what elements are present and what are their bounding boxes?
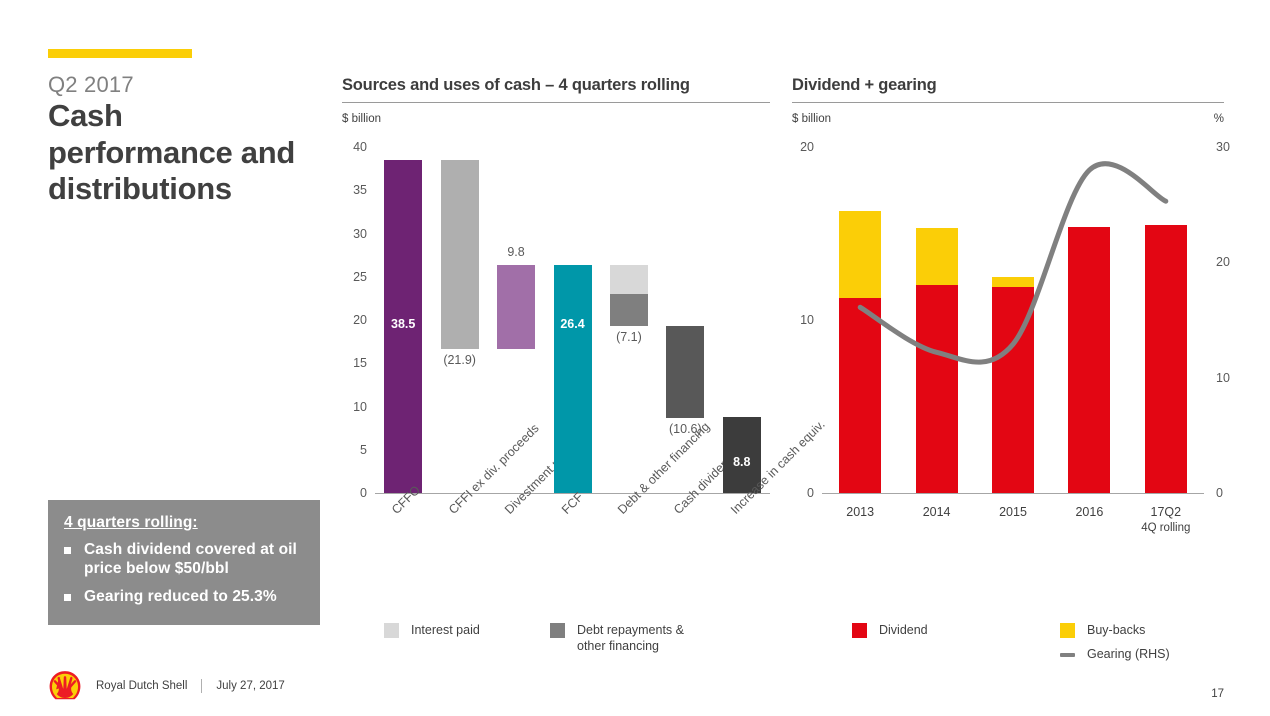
legend-label: Dividend [879, 622, 928, 638]
page-title-line-2: distributions [48, 171, 348, 208]
bar-value-label: 26.4 [554, 317, 592, 331]
legend-label: Buy-backs [1087, 622, 1145, 638]
bar-value-label: 8.8 [723, 455, 761, 469]
legend-label: Debt repayments &other financing [577, 622, 684, 655]
footer-company: Royal Dutch Shell [96, 680, 187, 692]
accent-bar [48, 49, 192, 58]
shell-pecten-logo-icon [48, 670, 82, 702]
legend-label: Interest paid [411, 622, 480, 638]
y-axis-unit-label-right-chart-right: % [1214, 113, 1224, 125]
footer-date: July 27, 2017 [216, 680, 284, 692]
gearing-line-path [860, 164, 1166, 362]
chart-panel-sources-uses: Sources and uses of cash – 4 quarters ro… [342, 76, 770, 125]
callout-bullet: Cash dividend covered at oil price below… [64, 541, 304, 579]
y-axis-tick-label: 15 [342, 356, 367, 370]
bar-value-label: 38.5 [384, 317, 422, 331]
legend-item: Interest paid [384, 622, 480, 638]
y-axis-tick-label: 35 [342, 183, 367, 197]
page-title: Cashperformance anddistributions [48, 98, 348, 208]
footer: Royal Dutch Shell July 27, 2017 [48, 670, 285, 702]
chart-panel-dividend-gearing: Dividend + gearing $ billion % [792, 76, 1224, 125]
legend-item: Gearing (RHS) [1060, 646, 1170, 662]
y-axis-tick-label: 10 [342, 400, 367, 414]
callout-bullet-text: Gearing reduced to 25.3% [84, 588, 277, 605]
slide-root: Q2 2017 Cashperformance anddistributions… [0, 0, 1270, 716]
bar-value-label: (10.6) [650, 422, 720, 436]
page-title-line-1: performance and [48, 135, 348, 172]
bar [441, 160, 479, 349]
chart-plot-sources-uses: 051015202530354038.5CFFO(21.9)CFFI ex di… [342, 130, 774, 600]
chart-plot-dividend-gearing: 010200102030201320142015201617Q24Q rolli… [792, 130, 1224, 600]
legend-label: Gearing (RHS) [1087, 646, 1170, 662]
y-axis-unit-label-right-chart-left: $ billion [792, 113, 831, 125]
callout-bullet-list: Cash dividend covered at oil price below… [64, 541, 304, 607]
callout-bullet: Gearing reduced to 25.3% [64, 588, 304, 607]
gearing-line-series [792, 130, 1224, 600]
bullet-square-icon [64, 594, 71, 601]
bar-segment [610, 294, 648, 326]
legend-item: Dividend [852, 622, 928, 638]
legend-swatch [384, 623, 399, 638]
y-axis-tick-label: 0 [342, 486, 367, 500]
bar [497, 265, 535, 350]
bar-value-label: 9.8 [483, 245, 549, 259]
callout-bullet-text: Cash dividend covered at oil price below… [84, 541, 297, 577]
legend-line-marker [1060, 653, 1075, 657]
bar-segment [610, 265, 648, 294]
legend-item: Debt repayments &other financing [550, 622, 684, 655]
x-axis-tick-label: CFFI ex div. proceeds [446, 421, 542, 517]
bar-value-label: (21.9) [425, 353, 495, 367]
bar-value-label: (7.1) [594, 330, 664, 344]
bullet-square-icon [64, 547, 71, 554]
callout-title: 4 quarters rolling: [64, 514, 304, 532]
y-axis-tick-label: 20 [342, 313, 367, 327]
bar [666, 326, 704, 418]
chart-title-dividend-gearing: Dividend + gearing [792, 76, 1224, 95]
page-number: 17 [1211, 688, 1224, 700]
y-axis-tick-label: 40 [342, 140, 367, 154]
y-axis-tick-label: 5 [342, 443, 367, 457]
y-axis-tick-label: 30 [342, 227, 367, 241]
page-title-line-0: Cash [48, 98, 348, 135]
legend-item: Buy-backs [1060, 622, 1145, 638]
y-axis-tick-label: 25 [342, 270, 367, 284]
key-messages-callout: 4 quarters rolling: Cash dividend covere… [48, 500, 320, 625]
bar [554, 265, 592, 493]
footer-separator [201, 679, 202, 693]
y-axis-unit-label-left: $ billion [342, 113, 770, 125]
title-divider [342, 102, 770, 103]
legend-swatch [1060, 623, 1075, 638]
slide-eyebrow: Q2 2017 [48, 72, 134, 98]
legend-swatch [550, 623, 565, 638]
chart-title-sources-uses: Sources and uses of cash – 4 quarters ro… [342, 76, 770, 95]
legend-swatch [852, 623, 867, 638]
